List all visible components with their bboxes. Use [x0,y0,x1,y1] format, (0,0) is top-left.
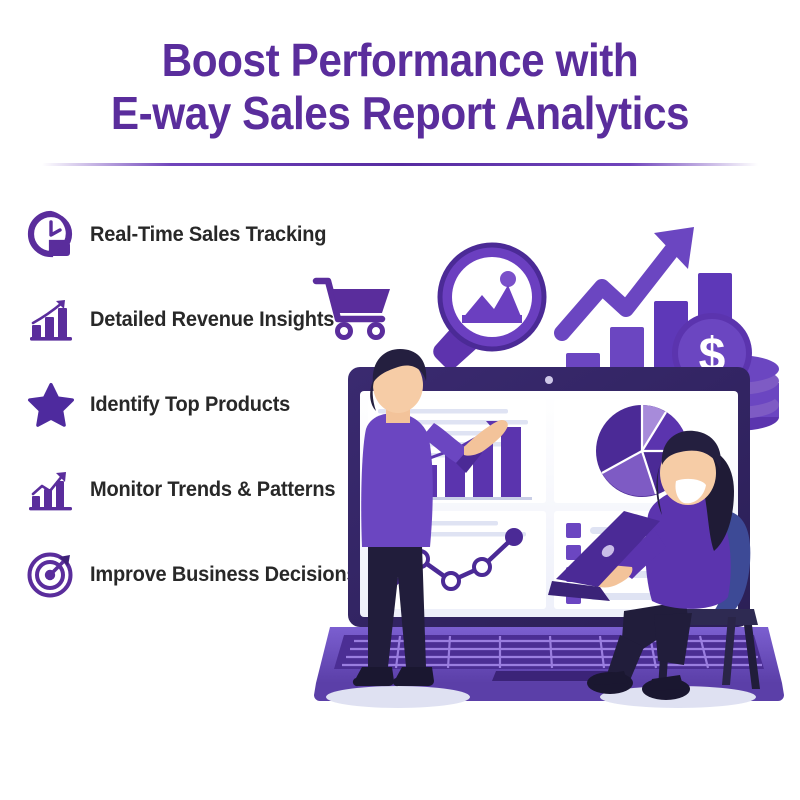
title-line-2: E-way Sales Report Analytics [32,87,768,140]
poster-canvas: Boost Performance with E-way Sales Repor… [0,0,800,800]
feature-label: Detailed Revenue Insights [90,307,334,332]
title-divider [42,163,758,166]
page-title: Boost Performance with E-way Sales Repor… [0,34,800,141]
shopping-cart-icon [316,281,390,338]
clock-bubble-icon [22,205,80,263]
shadow-man [326,686,470,708]
feature-label: Monitor Trends & Patterns [90,477,335,502]
trend-chart-icon [22,460,80,518]
star-icon [22,375,80,433]
analytics-scene-svg: $ [310,215,800,715]
title-line-1: Boost Performance with [32,34,768,87]
analytics-scene: $ [310,215,800,715]
target-arrow-icon [22,545,80,603]
feature-label: Identify Top Products [90,392,290,417]
magnifier-chart-icon [433,245,544,369]
feature-label: Real-Time Sales Tracking [90,222,326,247]
bar-chart-growth-icon [22,290,80,348]
